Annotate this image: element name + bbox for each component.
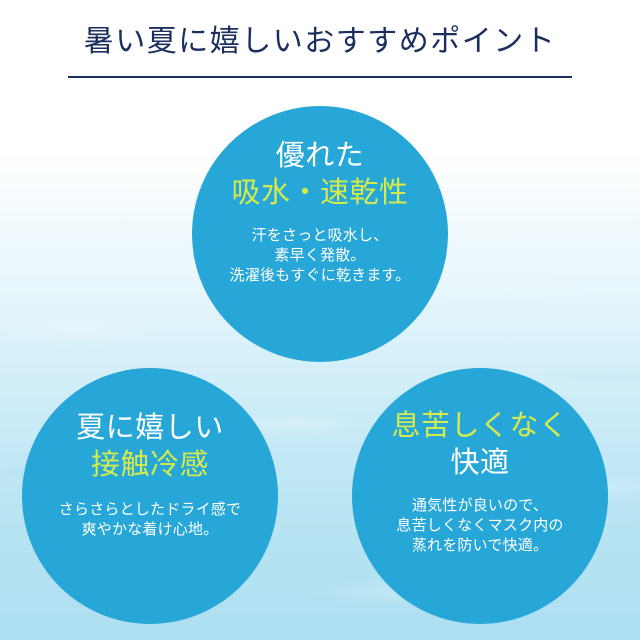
feature-headline: 夏に嬉しい 接触冷感: [76, 410, 224, 484]
feature-body-line-2: 爽やかな着け心地。: [59, 520, 241, 540]
feature-circle-ikigurushiku-naku-kaiteki: 息苦しくなく 快適 通気性が良いので、 息苦しくなくマスク内の 蒸れを防いで快適…: [352, 368, 608, 624]
page-title: 暑い夏に嬉しいおすすめポイント: [0, 22, 640, 62]
feature-headline: 優れた 吸水・速乾性: [231, 138, 408, 212]
feature-headline-line-2: 吸水・速乾性: [231, 175, 408, 212]
feature-body: さらさらとしたドライ感で 爽やかな着け心地。: [59, 500, 241, 540]
feature-headline-line-2: 快適: [391, 445, 568, 482]
feature-headline: 息苦しくなく 快適: [391, 408, 568, 482]
feature-body-line-1: 通気性が良いので、: [396, 496, 563, 516]
feature-headline-line-1: 夏に嬉しい: [76, 410, 224, 447]
feature-body-line-3: 洗濯後もすぐに乾きます。: [230, 266, 411, 286]
title-divider: [68, 76, 572, 78]
feature-headline-line-1: 優れた: [231, 138, 408, 175]
feature-body-line-2: 息苦しくなくマスク内の: [396, 516, 563, 536]
feature-headline-line-1: 息苦しくなく: [391, 408, 568, 445]
feature-body: 汗をさっと吸水し、 素早く発散。 洗濯後もすぐに乾きます。: [230, 226, 411, 286]
feature-circle-suikyu-sokkansei: 優れた 吸水・速乾性 汗をさっと吸水し、 素早く発散。 洗濯後もすぐに乾きます。: [192, 106, 448, 362]
feature-body-line-3: 蒸れを防いで快適。: [396, 536, 563, 556]
infographic-poster: 暑い夏に嬉しいおすすめポイント 優れた 吸水・速乾性 汗をさっと吸水し、 素早く…: [0, 0, 640, 640]
feature-headline-line-2: 接触冷感: [76, 447, 224, 484]
feature-body: 通気性が良いので、 息苦しくなくマスク内の 蒸れを防いで快適。: [396, 496, 563, 556]
feature-body-line-2: 素早く発散。: [230, 246, 411, 266]
feature-circle-sesshoku-reikan: 夏に嬉しい 接触冷感 さらさらとしたドライ感で 爽やかな着け心地。: [22, 368, 278, 624]
feature-body-line-1: 汗をさっと吸水し、: [230, 226, 411, 246]
feature-body-line-1: さらさらとしたドライ感で: [59, 500, 241, 520]
